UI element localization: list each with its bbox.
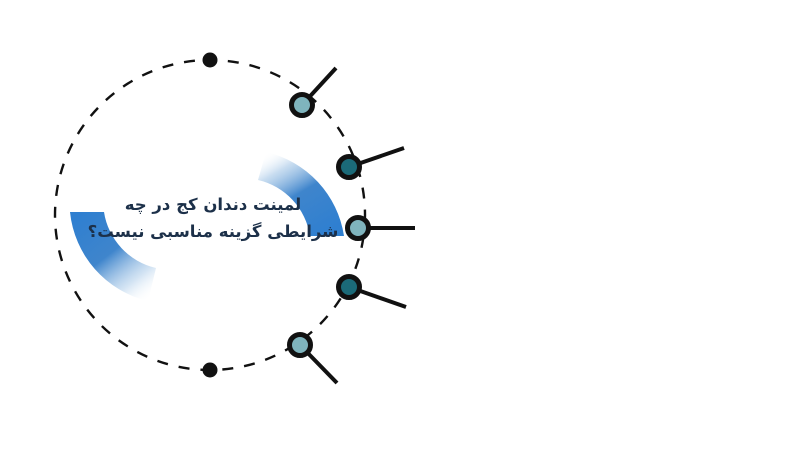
center-question-line-2: شرایطی گزینه مناسبی نیست؟	[68, 219, 358, 246]
circle-node-05[interactable]	[290, 335, 311, 356]
circle-node-02[interactable]	[339, 157, 360, 178]
circle-node-01[interactable]	[292, 95, 313, 116]
center-question: لمینت دندان کج در چه شرایطی گزینه مناسبی…	[68, 192, 358, 245]
center-question-line-1: لمینت دندان کج در چه	[68, 192, 358, 219]
circle-marker-dot-top	[203, 53, 218, 68]
infographic-canvas: لمینت دندان کج در چه شرایطی گزینه مناسبی…	[0, 0, 800, 450]
circle-node-04[interactable]	[339, 277, 360, 298]
circle-marker-dot-bottom	[203, 363, 218, 378]
